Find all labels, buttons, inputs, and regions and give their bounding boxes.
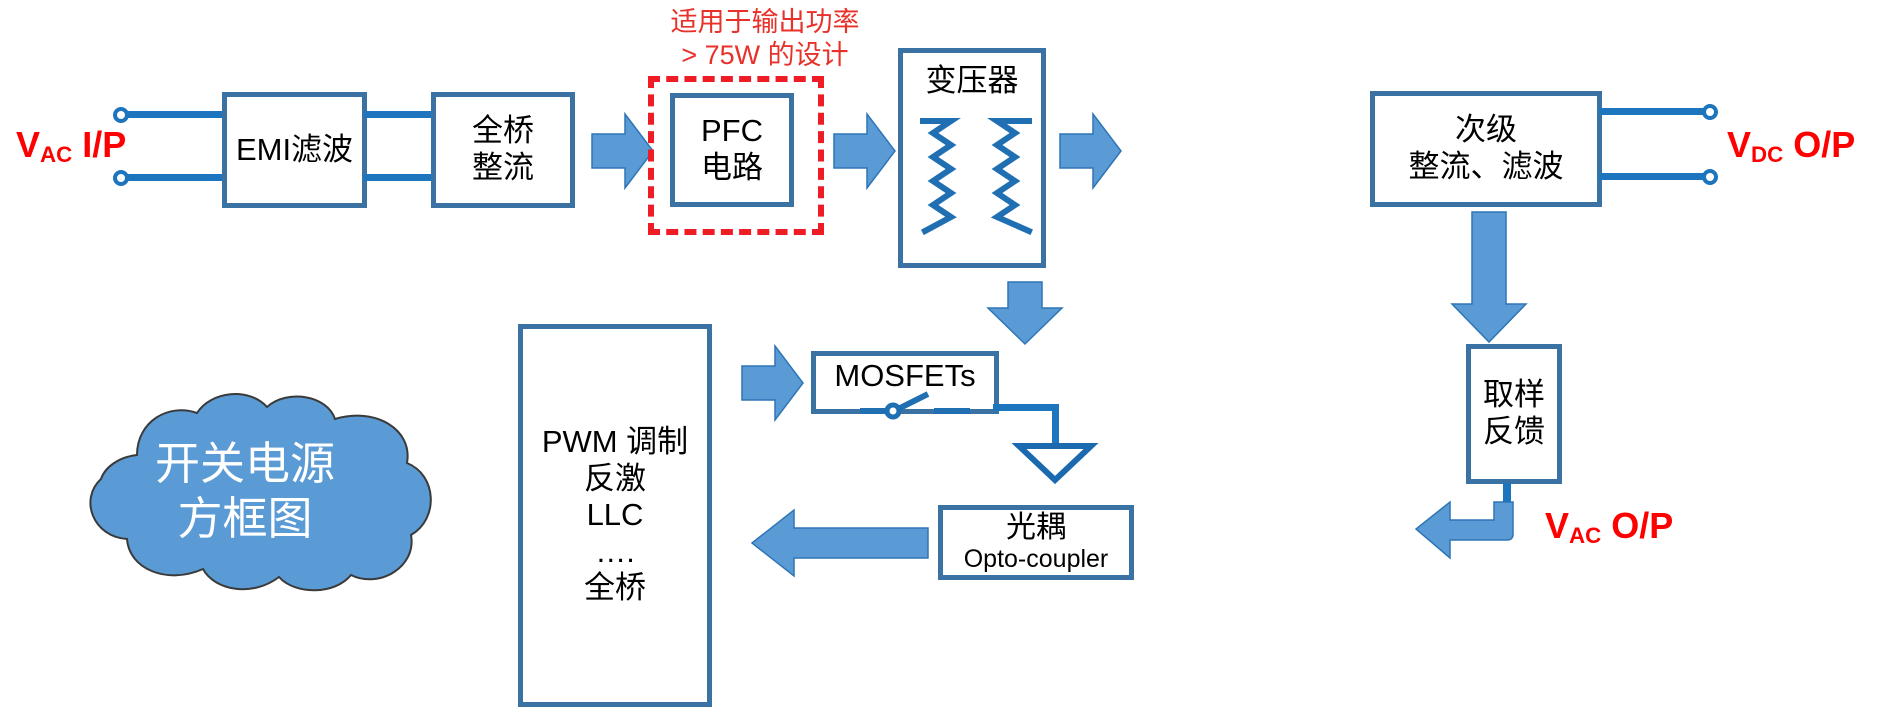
input-label-suffix: I/P <box>72 124 126 165</box>
input-label-main: V <box>16 124 40 165</box>
block-sampling-feedback[interactable]: 取样 反馈 <box>1466 344 1562 484</box>
block-pfc[interactable]: PFC 电路 <box>670 93 794 207</box>
wire-input-bottom <box>128 174 226 181</box>
block-pwm[interactable]: PWM 调制 反激 LLC …. 全桥 <box>518 324 712 707</box>
block-pfc-label: PFC 电路 <box>701 113 763 186</box>
arrow-optocoupler-to-pwm <box>750 508 930 578</box>
arrow-pfc-to-transformer <box>834 112 896 190</box>
title-cloud-label: 开关电源 方框图 <box>45 437 445 547</box>
pfc-annotation: 适用于输出功率 > 75W 的设计 <box>620 6 910 72</box>
arrow-secondary-to-sampling <box>1450 212 1528 344</box>
block-emi-filter[interactable]: EMI滤波 <box>222 92 367 208</box>
block-pwm-label: PWM 调制 反激 LLC …. 全桥 <box>542 424 688 607</box>
block-optocoupler-label-en: Opto-coupler <box>964 545 1109 575</box>
input-terminal-top <box>113 107 129 123</box>
output-ac-label-main: V <box>1545 505 1569 546</box>
block-mosfets[interactable]: MOSFETs <box>811 351 999 414</box>
output-terminal-bottom <box>1702 169 1718 185</box>
output-ac-label-sub: AC <box>1569 523 1601 548</box>
input-terminal-bottom <box>113 170 129 186</box>
output-terminal-top <box>1702 104 1718 120</box>
block-sampling-feedback-label: 取样 反馈 <box>1483 377 1545 450</box>
wire-input-top <box>128 111 226 118</box>
block-bridge-rectifier-label: 全桥 整流 <box>472 113 534 186</box>
arrow-transformer-to-mosfets <box>986 282 1064 346</box>
title-cloud: 开关电源 方框图 <box>45 385 445 595</box>
wire-emi-to-bridge-bottom <box>364 174 436 181</box>
arrow-transformer-to-secondary <box>1060 112 1122 190</box>
output-dc-label-sub: DC <box>1751 142 1783 167</box>
input-label-sub: AC <box>40 142 72 167</box>
block-emi-filter-label: EMI滤波 <box>236 132 353 169</box>
block-bridge-rectifier[interactable]: 全桥 整流 <box>431 92 575 208</box>
output-ac-voltage-label: VAC O/P <box>1545 505 1673 549</box>
output-dc-label-main: V <box>1727 124 1751 165</box>
block-optocoupler[interactable]: 光耦 Opto-coupler <box>938 505 1134 580</box>
output-dc-voltage-label: VDC O/P <box>1727 124 1855 168</box>
arrow-sampling-to-optocoupler <box>1414 500 1514 570</box>
block-secondary-rectifier-label: 次级 整流、滤波 <box>1409 112 1564 185</box>
output-dc-label-suffix: O/P <box>1783 124 1855 165</box>
diagram-canvas: 适用于输出功率 > 75W 的设计 VAC I/P EMI滤波 全桥 整流 PF… <box>0 0 1891 707</box>
arrow-mosfets-ground <box>1015 442 1095 484</box>
block-transformer[interactable]: 变压器 <box>898 48 1046 268</box>
block-mosfets-label: MOSFETs <box>834 358 975 395</box>
block-transformer-label: 变压器 <box>926 63 1019 100</box>
wire-output-top <box>1599 108 1703 115</box>
block-secondary-rectifier[interactable]: 次级 整流、滤波 <box>1370 91 1602 207</box>
wire-output-bottom <box>1599 173 1703 180</box>
arrow-pwm-to-mosfets <box>742 344 804 422</box>
output-ac-label-suffix: O/P <box>1601 505 1673 546</box>
switch-symbol-icon <box>858 392 973 418</box>
wire-emi-to-bridge-top <box>364 111 436 118</box>
block-optocoupler-label-cn: 光耦 <box>1006 510 1066 545</box>
wire-mosfets-to-ground-h <box>993 404 1059 411</box>
input-voltage-label: VAC I/P <box>16 124 126 168</box>
arrow-bridge-to-pfc <box>592 112 654 190</box>
transformer-coils-icon <box>917 113 1037 243</box>
